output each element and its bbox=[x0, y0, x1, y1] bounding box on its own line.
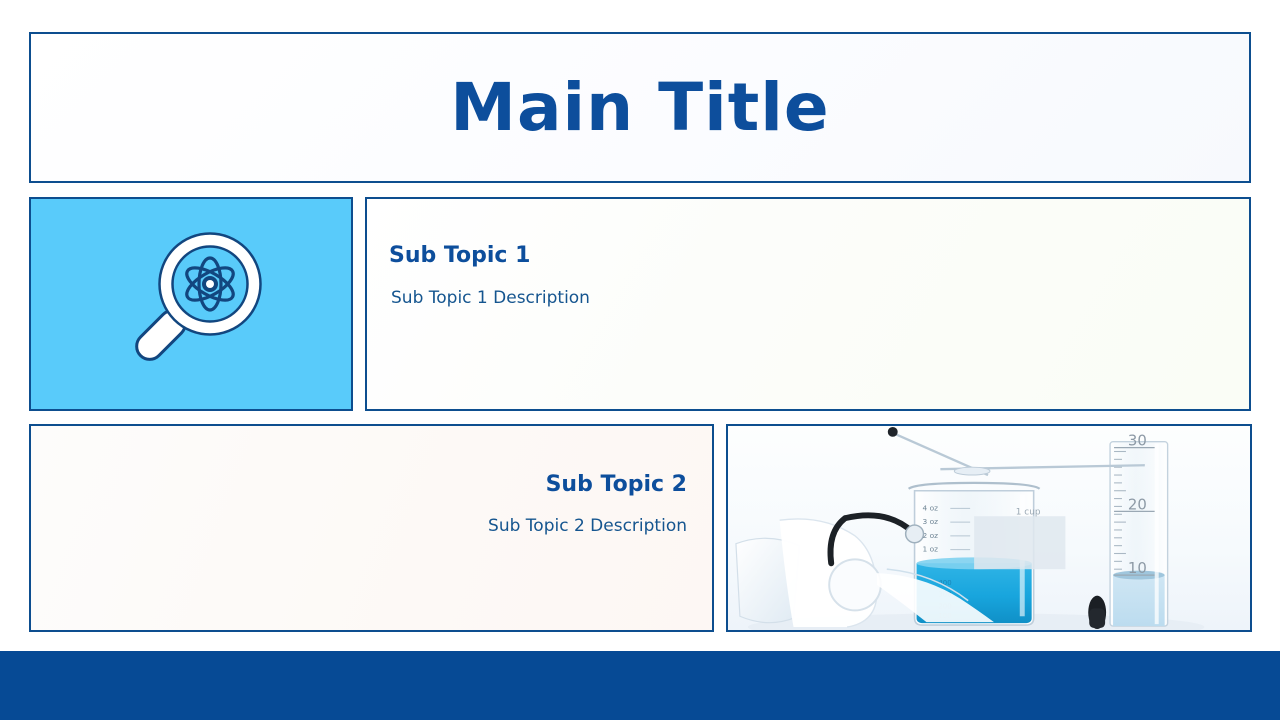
slide-canvas: Main Title bbox=[0, 0, 1280, 720]
sub-topic-2-heading: Sub Topic 2 bbox=[31, 472, 687, 497]
svg-text:1 cup: 1 cup bbox=[1016, 507, 1041, 517]
svg-text:10: 10 bbox=[1128, 560, 1147, 577]
svg-text:1 oz: 1 oz bbox=[923, 545, 939, 554]
sub-topic-1-card: Sub Topic 1 Sub Topic 1 Description bbox=[365, 197, 1251, 411]
sub-topic-1-description: Sub Topic 1 Description bbox=[391, 288, 1249, 308]
laboratory-photo-panel: 30 20 10 bbox=[726, 424, 1252, 632]
laboratory-glassware-photo: 30 20 10 bbox=[728, 426, 1250, 630]
sub-topic-1-heading: Sub Topic 1 bbox=[389, 243, 1249, 268]
title-card: Main Title bbox=[29, 32, 1251, 183]
sub-topic-2-card: Sub Topic 2 Sub Topic 2 Description bbox=[29, 424, 714, 632]
magnifier-atom-icon bbox=[116, 229, 266, 379]
sub-topic-2-description: Sub Topic 2 Description bbox=[31, 516, 687, 536]
footer-bar bbox=[0, 651, 1280, 720]
svg-text:30: 30 bbox=[1128, 433, 1147, 450]
svg-text:20: 20 bbox=[1128, 496, 1147, 513]
icon-panel bbox=[29, 197, 353, 411]
svg-text:3 oz: 3 oz bbox=[923, 517, 939, 526]
svg-text:4 oz: 4 oz bbox=[923, 503, 939, 512]
svg-text:2 oz: 2 oz bbox=[923, 531, 939, 540]
page-title: Main Title bbox=[450, 75, 829, 141]
